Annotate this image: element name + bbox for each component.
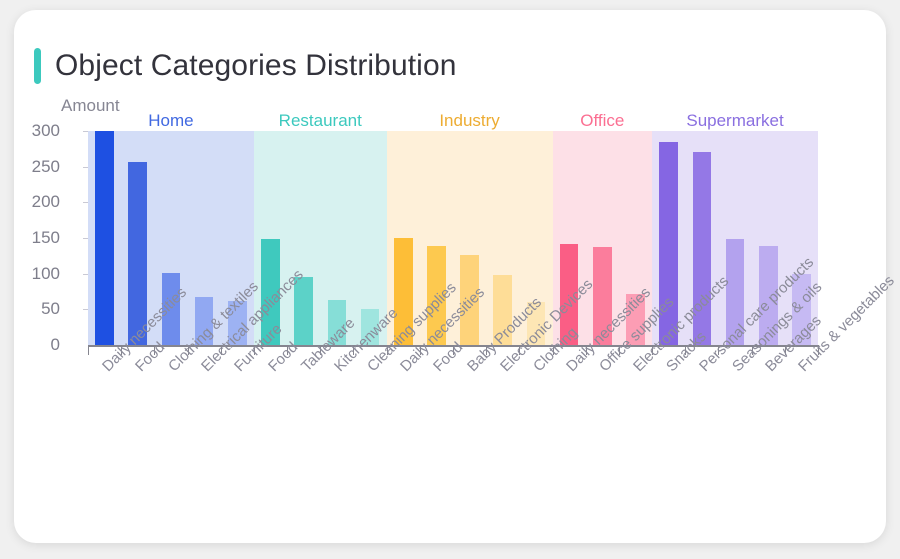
y-axis-ticks: 300250200150100500 (14, 131, 60, 345)
group-label-supermarket: Supermarket (652, 111, 818, 131)
group-label-row: HomeRestaurantIndustryOfficeSupermarket (88, 111, 818, 133)
group-label-industry: Industry (387, 111, 553, 131)
y-tick-mark (83, 238, 88, 239)
y-tick-label: 200 (14, 192, 60, 212)
y-tick-label: 150 (14, 228, 60, 248)
y-tick-label: 300 (14, 121, 60, 141)
y-tick-label: 50 (14, 299, 60, 319)
x-axis-labels: Daily necessitiesFoodClothing & textiles… (14, 357, 886, 537)
y-tick-label: 250 (14, 157, 60, 177)
x-tick-mark (88, 347, 89, 355)
bar[interactable] (95, 131, 114, 345)
group-label-restaurant: Restaurant (254, 111, 387, 131)
group-label-office: Office (553, 111, 653, 131)
y-tick-mark (83, 167, 88, 168)
y-tick-mark (83, 202, 88, 203)
y-tick-label: 100 (14, 264, 60, 284)
chart-card: Object Categories Distribution Amount Ho… (14, 10, 886, 543)
bar-chart: Amount HomeRestaurantIndustryOfficeSuper… (14, 10, 886, 543)
group-label-home: Home (88, 111, 254, 131)
y-tick-mark (83, 131, 88, 132)
y-tick-mark (83, 309, 88, 310)
y-tick-label: 0 (14, 335, 60, 355)
y-tick-mark (83, 274, 88, 275)
